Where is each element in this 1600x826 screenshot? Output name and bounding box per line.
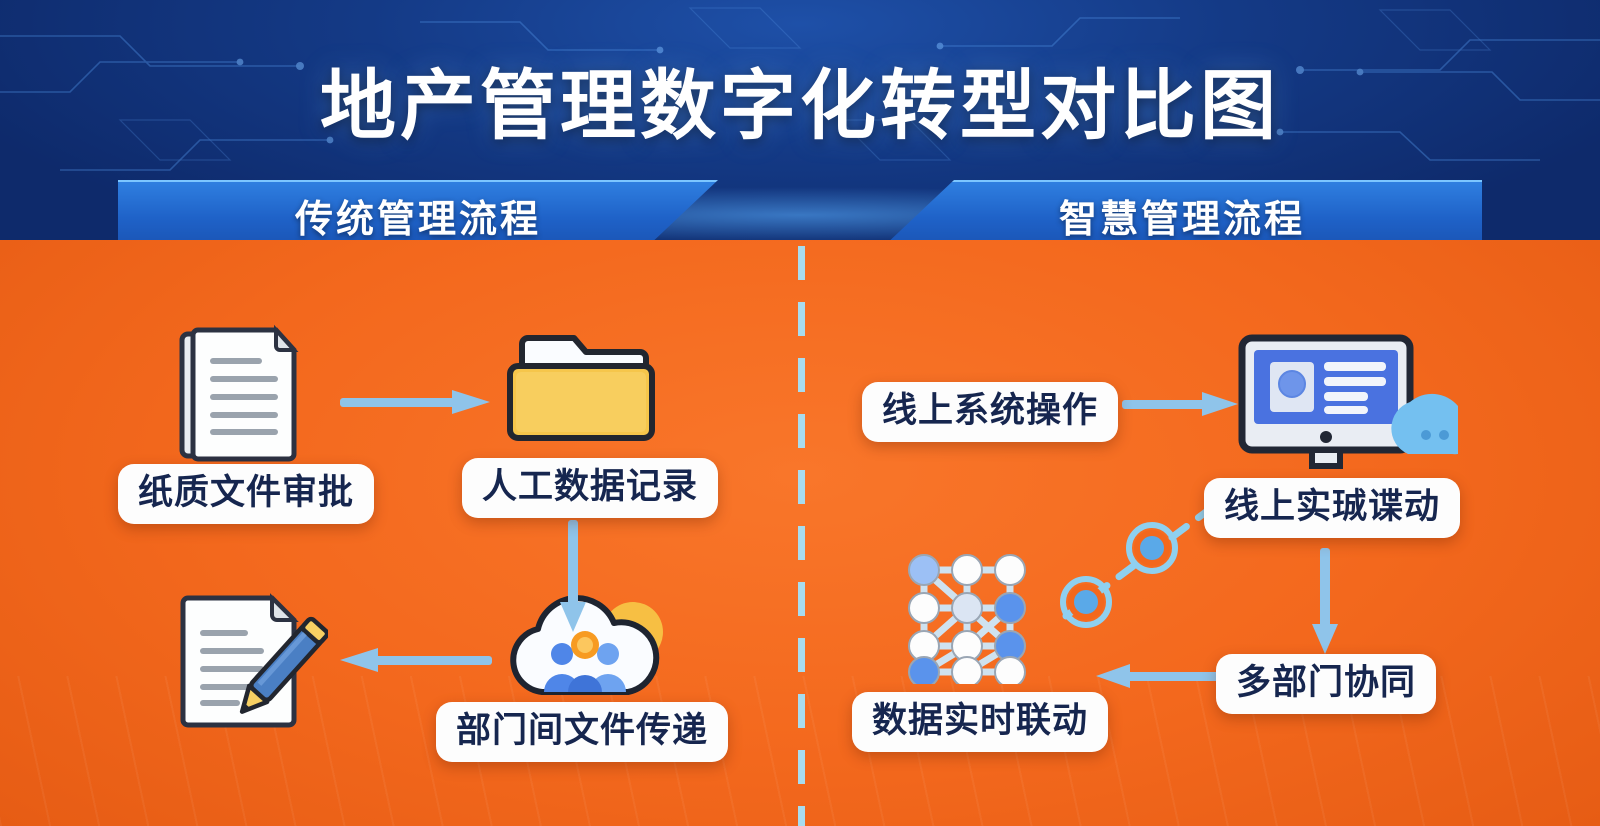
arrow-left-multidept-to-data — [1094, 664, 1220, 688]
chip-online-realtime[interactable]: 线上实珹谍动 — [1204, 478, 1460, 538]
arrow-right-online-to-monitor — [1122, 392, 1238, 416]
network-nodes-icon — [902, 552, 1032, 684]
connector-node-lower — [1063, 579, 1109, 625]
page-title: 地产管理数字化转型对比图 — [0, 44, 1600, 154]
chip-doc-transfer[interactable]: 部门间文件传递 — [436, 702, 728, 762]
arrow-down-folder-to-cloud — [560, 520, 586, 632]
arrow-left-cloud-to-signed-doc — [332, 648, 492, 672]
panel-header-smart: 智慧管理流程 — [882, 180, 1482, 248]
arrow-right-paper-to-folder — [340, 390, 490, 414]
connector-node-upper — [1129, 525, 1175, 571]
center-divider — [798, 246, 805, 826]
panel-header-traditional-label: 传统管理流程 — [295, 188, 541, 243]
chip-data-realtime[interactable]: 数据实时联动 — [852, 692, 1108, 752]
documents-stack-icon — [172, 322, 312, 462]
panel-header-traditional: 传统管理流程 — [118, 180, 718, 248]
panel-header-smart-label: 智慧管理流程 — [1059, 188, 1305, 243]
document-pen-icon — [168, 592, 328, 732]
infographic-canvas: 地产管理数字化转型对比图 传统管理流程 智慧管理流程 — [0, 0, 1600, 826]
dashed-diagonal-connector — [1046, 492, 1226, 628]
chip-multi-dept[interactable]: 多部门协同 — [1216, 654, 1436, 714]
chip-manual-record[interactable]: 人工数据记录 — [462, 458, 718, 518]
arrow-down-realtime-to-multidept — [1312, 548, 1338, 654]
monitor-cloud-icon — [1228, 332, 1458, 472]
chip-online-system[interactable]: 线上系统操作 — [862, 382, 1118, 442]
chip-paper-approval[interactable]: 纸质文件审批 — [118, 464, 374, 524]
folder-icon — [500, 330, 660, 444]
